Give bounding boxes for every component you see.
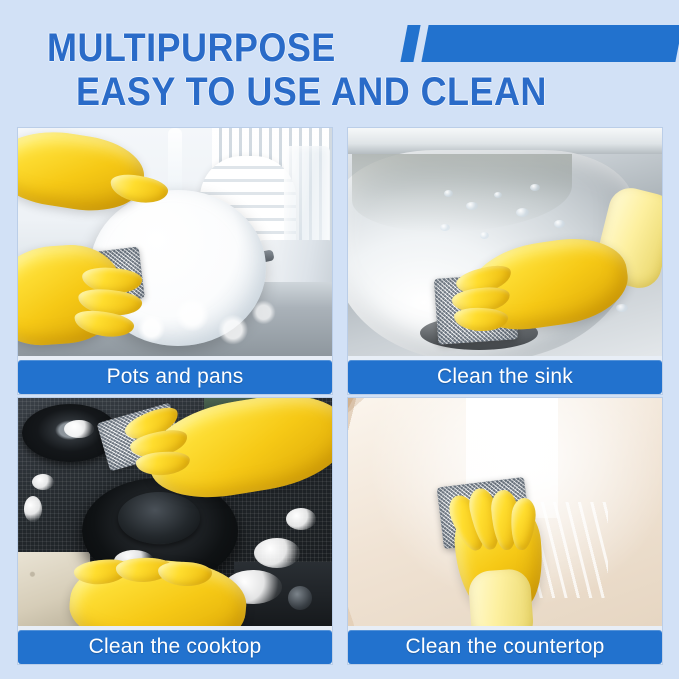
water-droplet [530,184,540,191]
header: MULTIPURPOSE EASY TO USE AND CLEAN [0,0,679,124]
soap-suds [24,496,42,522]
panel-clean-the-cooktop[interactable]: Clean the cooktop [18,398,332,664]
photo-pots-and-pans [18,128,332,356]
bar-decoration-icon [421,25,679,62]
page-title-line-2: EASY TO USE AND CLEAN [76,71,547,113]
control-knob[interactable] [288,586,312,610]
caption-clean-the-countertop: Clean the countertop [348,630,662,664]
burner-cap [118,492,200,544]
water-droplet [516,208,529,217]
soap-suds [64,420,94,438]
caption-clean-the-sink: Clean the sink [348,360,662,394]
feature-grid: Pots and pans [18,128,662,664]
page-title-line-1: MULTIPURPOSE [47,27,336,69]
caption-clean-the-cooktop: Clean the cooktop [18,630,332,664]
water-droplet [444,190,453,197]
water-droplet [440,224,450,231]
glove-cuff [467,568,534,626]
slash-decoration-icon [400,25,420,62]
photo-clean-the-sink [348,128,662,356]
water-droplet [466,202,478,210]
soap-suds [286,508,316,530]
soap-suds [32,474,54,490]
panel-clean-the-sink[interactable]: Clean the sink [348,128,662,394]
product-infographic: MULTIPURPOSE EASY TO USE AND CLEAN [0,0,679,679]
panel-clean-the-countertop[interactable]: Clean the countertop [348,398,662,664]
water-droplet [554,220,565,228]
soap-suds [254,538,300,568]
water-droplet [494,192,502,198]
photo-clean-the-cooktop [18,398,332,626]
panel-pots-and-pans[interactable]: Pots and pans [18,128,332,394]
water-droplet [616,304,628,312]
caption-pots-and-pans: Pots and pans [18,360,332,394]
photo-clean-the-countertop [348,398,662,626]
water-droplet [480,232,489,239]
